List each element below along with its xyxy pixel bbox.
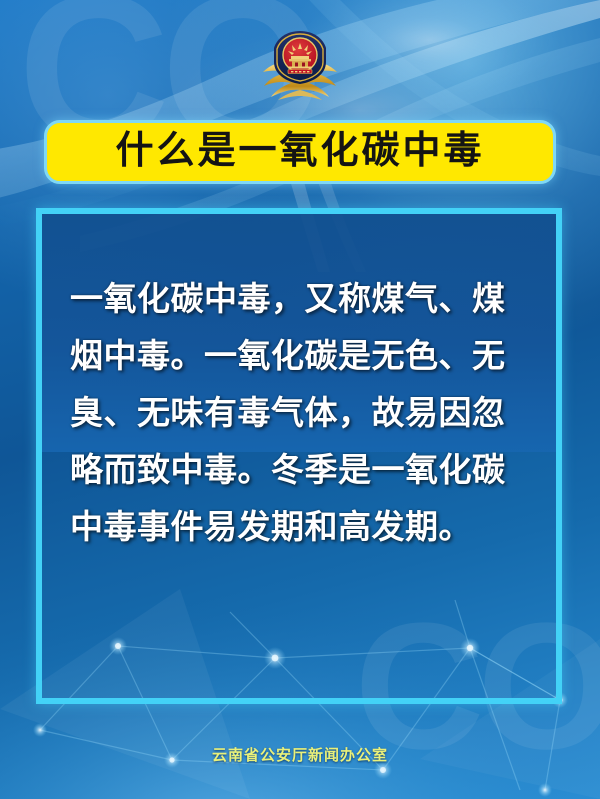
footer-source: 云南省公安厅新闻办公室 xyxy=(0,744,600,765)
police-emblem xyxy=(258,26,342,104)
poster-root: CO CO xyxy=(0,0,600,799)
page-title: 什么是一氧化碳中毒 xyxy=(115,132,484,173)
title-plate: 什么是一氧化碳中毒 xyxy=(44,120,556,184)
body-paragraph: 一氧化碳中毒，又称煤气、煤烟中毒。一氧化碳是无色、无臭、无味有毒气体，故易因忽略… xyxy=(70,272,536,557)
